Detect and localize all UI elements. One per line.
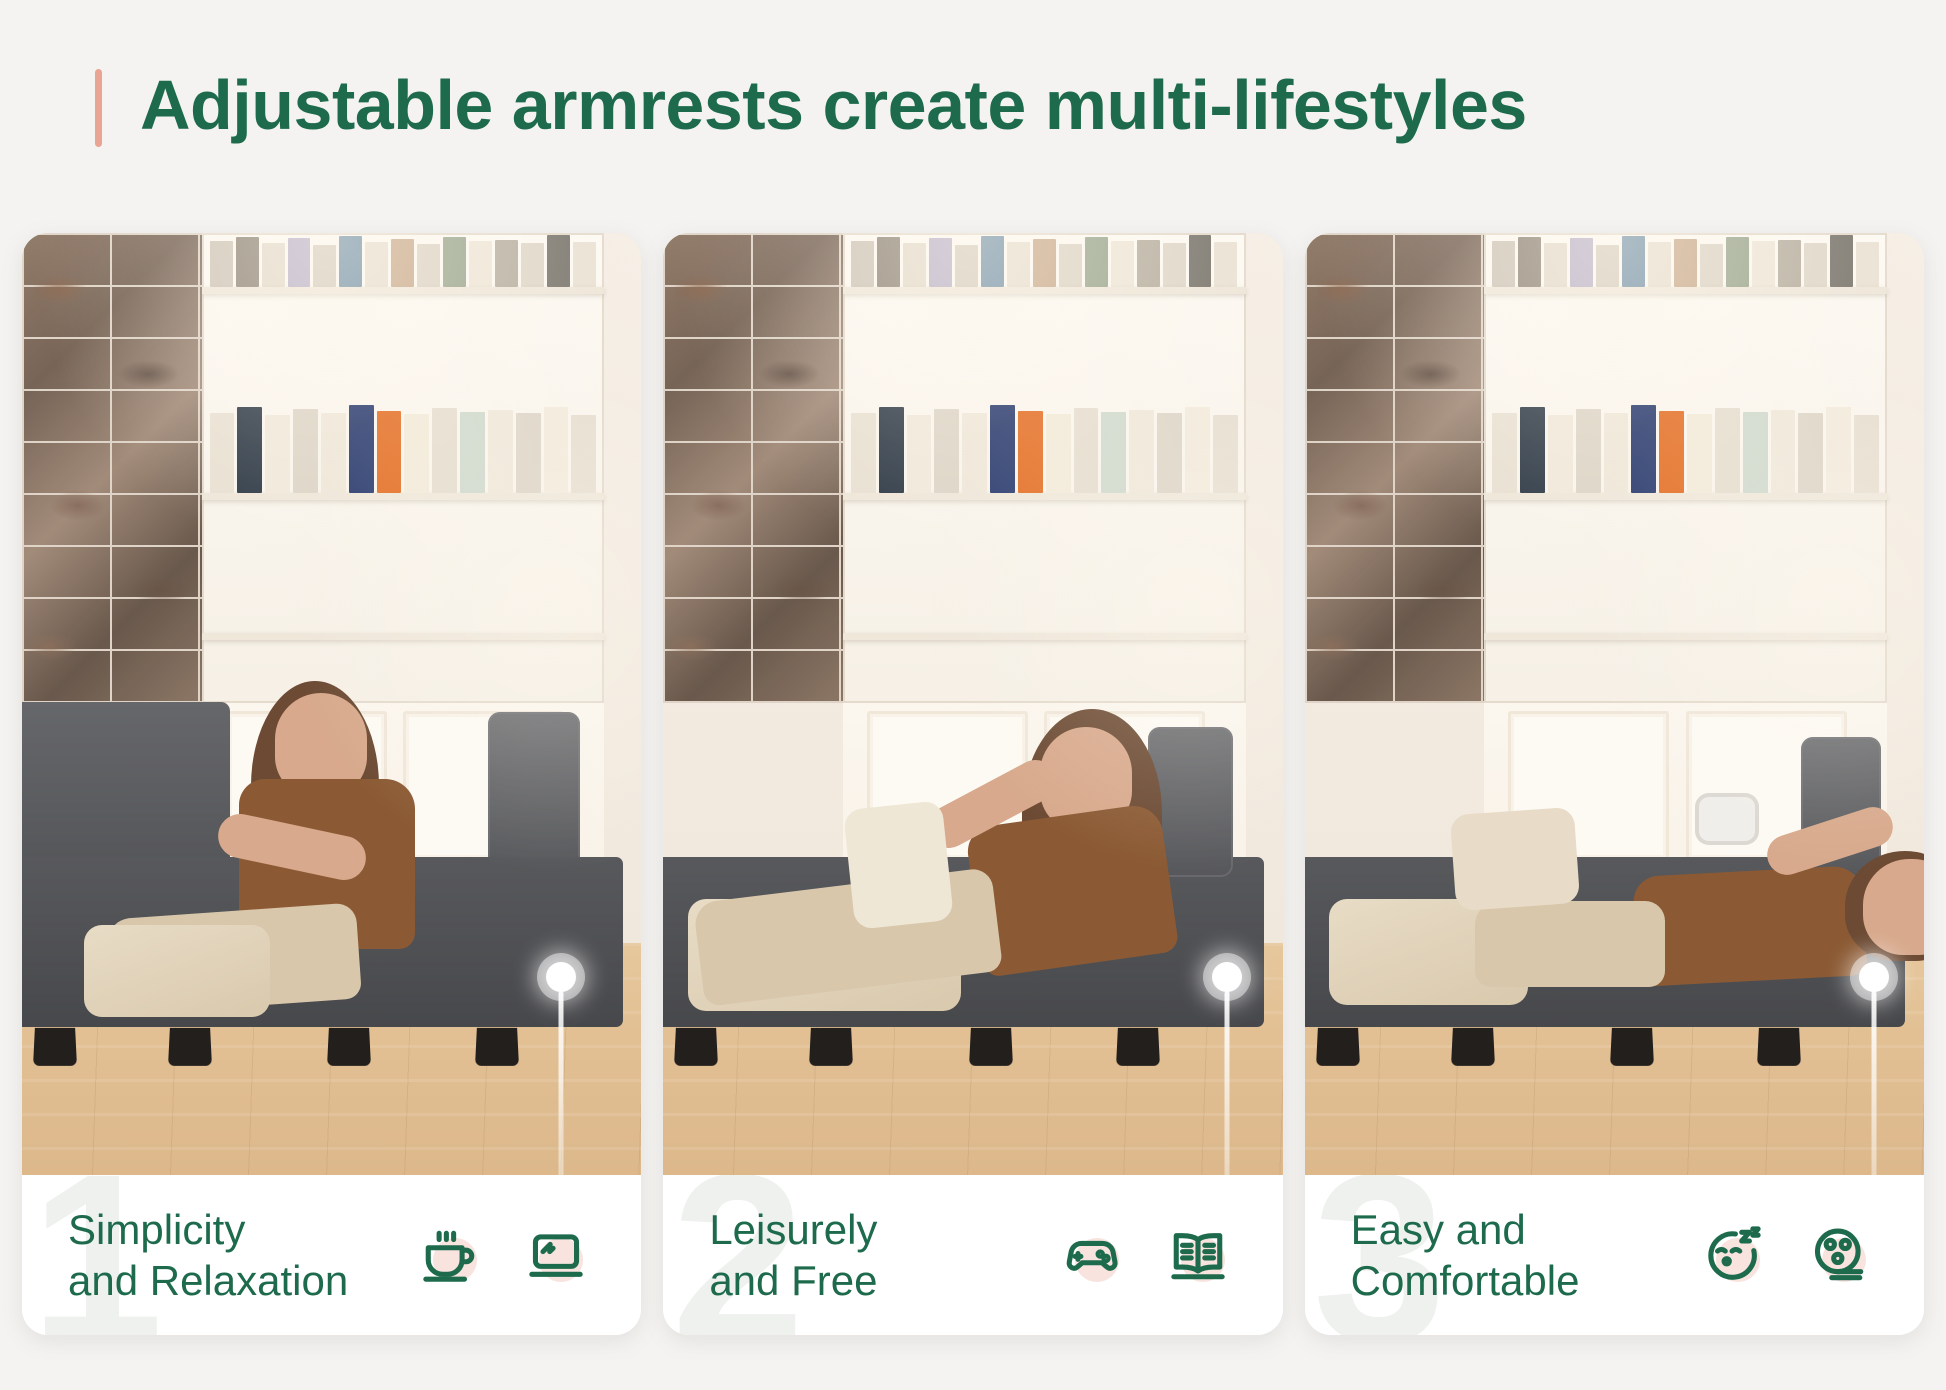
card-caption-text-1: Simplicity and Relaxation	[68, 1204, 348, 1306]
laptop-screen-icon[interactable]	[523, 1222, 589, 1288]
lifestyle-card-3[interactable]: 3 Easy and Comfortable	[1305, 233, 1924, 1335]
shelf-board-2	[1484, 493, 1887, 500]
shelf-board-2	[843, 493, 1246, 500]
card-icons-2	[1059, 1222, 1231, 1288]
magazine	[843, 800, 954, 930]
card-caption-text-2: Leisurely and Free	[709, 1204, 877, 1306]
lifestyle-card-1[interactable]: 1 Simplicity and Relaxation	[22, 233, 641, 1335]
magazine	[1450, 807, 1580, 911]
throw-blanket	[84, 925, 270, 1017]
film-reel-icon[interactable]	[1806, 1222, 1872, 1288]
headphones-icon	[1695, 793, 1759, 845]
sleeping-face-icon[interactable]	[1700, 1222, 1766, 1288]
shelf-board-3	[202, 633, 605, 640]
card-caption-1: 1 Simplicity and Relaxation	[22, 1175, 641, 1335]
person-torso	[1632, 865, 1867, 987]
marker-stem	[558, 991, 563, 1175]
card-photo-1	[22, 233, 641, 1175]
book-row-middle	[1492, 405, 1879, 493]
shelf-board-3	[843, 633, 1246, 640]
card-caption-3: 3 Easy and Comfortable	[1305, 1175, 1924, 1335]
page-title: Adjustable armrests create multi-lifesty…	[140, 70, 1527, 140]
bookshelf-unit	[202, 233, 605, 703]
marker-dot	[546, 962, 576, 992]
sofa-legs	[1305, 1025, 1906, 1065]
sofa-legs	[22, 1025, 623, 1065]
open-book-icon[interactable]	[1165, 1222, 1231, 1288]
person-legs	[1475, 901, 1665, 987]
lifestyle-card-2[interactable]: 2 Leisurely and Free	[663, 233, 1282, 1335]
brick-wall	[22, 233, 208, 703]
bookshelf-unit	[1484, 233, 1887, 703]
book-row-middle	[210, 405, 597, 493]
card-caption-text-3: Easy and Comfortable	[1351, 1204, 1580, 1306]
marker-dot	[1859, 962, 1889, 992]
card-icons-1	[417, 1222, 589, 1288]
page-header: Adjustable armrests create multi-lifesty…	[0, 0, 1946, 210]
brick-wall	[663, 233, 849, 703]
shelf-board-3	[1484, 633, 1887, 640]
book-row-top	[1492, 235, 1879, 287]
marker-stem	[1224, 991, 1229, 1175]
brick-wall	[1305, 233, 1491, 703]
shelf-board-1	[843, 287, 1246, 294]
sofa-armrest-upright	[488, 712, 580, 877]
gamepad-icon[interactable]	[1059, 1222, 1125, 1288]
book-row-top	[210, 235, 597, 287]
card-icons-3	[1700, 1222, 1872, 1288]
card-caption-2: 2 Leisurely and Free	[663, 1175, 1282, 1335]
lifestyle-card-row: 1 Simplicity and Relaxation	[22, 233, 1924, 1335]
person-figure	[948, 675, 1208, 1005]
shelf-board-1	[202, 287, 605, 294]
shelf-board-1	[1484, 287, 1887, 294]
sofa-legs	[663, 1025, 1264, 1065]
card-photo-2	[663, 233, 1282, 1175]
marker-stem	[1872, 991, 1877, 1175]
bookshelf-unit	[843, 233, 1246, 703]
shelf-board-2	[202, 493, 605, 500]
title-accent-bar	[95, 69, 102, 147]
book-row-top	[851, 235, 1238, 287]
book-row-middle	[851, 405, 1238, 493]
card-photo-3	[1305, 233, 1924, 1175]
marker-dot	[1212, 962, 1242, 992]
coffee-cup-icon[interactable]	[417, 1222, 483, 1288]
